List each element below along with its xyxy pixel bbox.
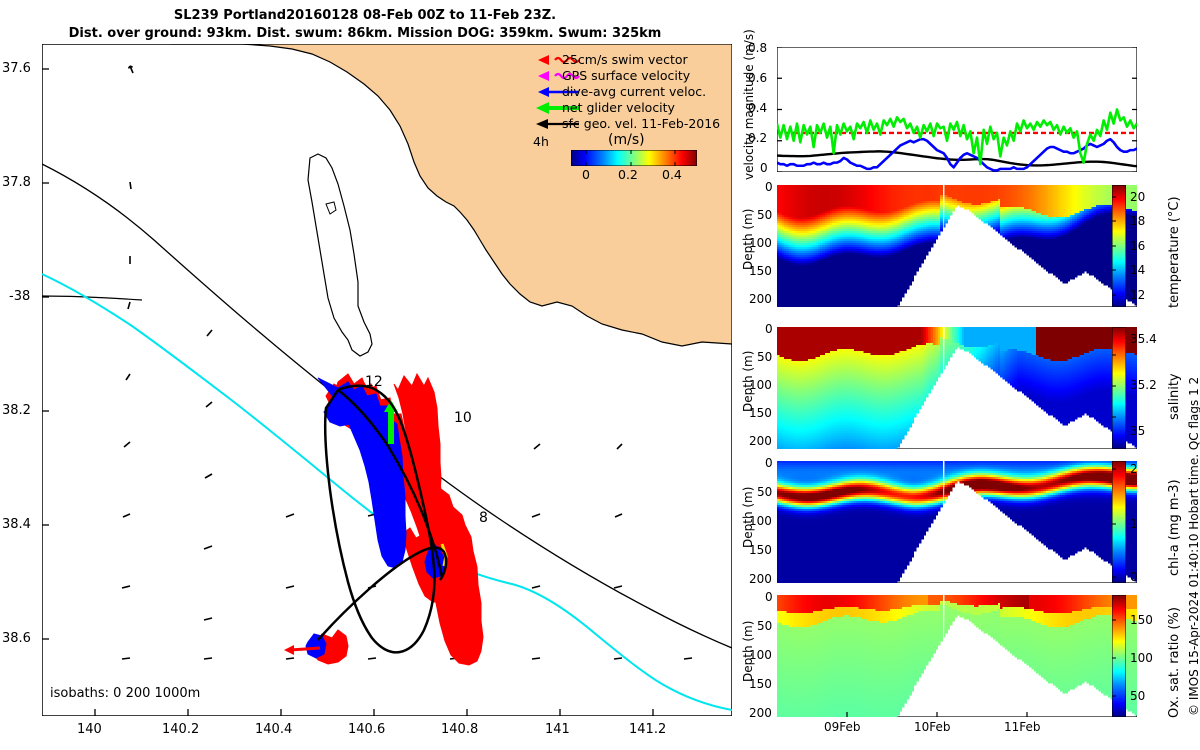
temperature-cbar-tick-4: 20 — [1130, 190, 1145, 204]
oxygen-section-plot[interactable] — [777, 595, 1137, 717]
velocity-ytick-0: 0 — [760, 161, 768, 175]
temperature-ytick-1: 50 — [757, 208, 772, 222]
chla-cbar-tick-2: 2 — [1130, 462, 1138, 476]
legend-colorbar — [571, 150, 697, 166]
velocity-plot-svg[interactable] — [777, 47, 1137, 172]
temperature-cbar-tick-1: 14 — [1130, 263, 1145, 277]
temperature-cbar-tick-2: 16 — [1130, 239, 1145, 253]
chla-cbar-tick-1: 1 — [1130, 517, 1138, 531]
chla-colorbar-svg — [1112, 461, 1126, 583]
temperature-cbar-label: temperature (°C) — [1167, 196, 1182, 308]
salinity-ytick-4: 200 — [749, 434, 772, 448]
oxygen-colorbar — [1112, 595, 1126, 717]
chla-cbar-label: chl-a (mg m-3) — [1167, 479, 1182, 576]
temperature-colorbar — [1112, 185, 1126, 307]
map-xtick-label-6: 141.2 — [629, 722, 666, 737]
map-ytick-label-2: -38 — [9, 289, 30, 304]
temperature-ytick-0: 0 — [765, 180, 773, 194]
salinity-cbar-tick-2: 35.4 — [1130, 332, 1157, 346]
temperature-cbar-tick-0: 12 — [1130, 288, 1145, 302]
legend-cbar-tick-0: 0 — [582, 167, 590, 182]
chla-ytick-0: 0 — [765, 456, 773, 470]
legend-colorbar-svg — [571, 150, 697, 166]
salinity-ytick-0: 0 — [765, 322, 773, 336]
oxygen-ytick-2: 100 — [749, 648, 772, 662]
isobaths-caption: isobaths: 0 200 1000m — [50, 686, 200, 701]
temperature-svg[interactable] — [777, 185, 1137, 307]
chla-colorbar — [1112, 461, 1126, 583]
velocity-timeseries-plot[interactable] — [777, 47, 1137, 172]
map-xtick-label-0: 140 — [77, 722, 102, 737]
oxygen-cbar-tick-0: 50 — [1130, 689, 1145, 703]
map-xtick-label-4: 140.8 — [441, 722, 478, 737]
salinity-colorbar-svg — [1112, 327, 1126, 449]
legend-interval-label: 4h — [533, 134, 549, 149]
copyright-label: © IMOS 15-Apr-2024 01:40:10 Hobart time.… — [1187, 377, 1200, 716]
legend-label-1: GPS surface velocity — [562, 68, 690, 83]
temperature-section-plot[interactable] — [777, 185, 1137, 307]
track-label-8: 8 — [479, 510, 488, 526]
map-xtick-label-1: 140.2 — [162, 722, 199, 737]
map-ytick-label-4: 38.4 — [2, 517, 31, 532]
salinity-ytick-3: 150 — [749, 406, 772, 420]
legend-cbar-tick-1: 0.2 — [618, 167, 638, 182]
oxygen-cbar-tick-1: 100 — [1130, 651, 1153, 665]
page-title-line1: SL239 Portland20160128 08-Feb 00Z to 11-… — [0, 8, 730, 23]
map-xtick-label-3: 140.6 — [348, 722, 385, 737]
chla-ytick-3: 150 — [749, 543, 772, 557]
chla-ytick-1: 50 — [757, 485, 772, 499]
velocity-ytick-1: 0.2 — [748, 131, 767, 145]
legend-label-0: 25cm/s swim vector — [562, 52, 688, 67]
oxygen-xtick-label-1: 10Feb — [914, 720, 951, 734]
temperature-ytick-3: 150 — [749, 264, 772, 278]
oxygen-svg[interactable] — [777, 595, 1137, 717]
page-title-line2: Dist. over ground: 93km. Dist. swum: 86k… — [0, 26, 730, 41]
temperature-cbar-tick-3: 18 — [1130, 214, 1145, 228]
oxygen-ytick-1: 50 — [757, 619, 772, 633]
legend-units-label: (m/s) — [608, 132, 645, 148]
track-label-10: 10 — [454, 410, 472, 426]
oxygen-cbar-label: Ox. sat. ratio (%) — [1167, 607, 1182, 718]
velocity-ytick-2: 0.4 — [748, 101, 767, 115]
salinity-section-plot[interactable] — [777, 327, 1137, 449]
chla-section-plot[interactable] — [777, 461, 1137, 583]
salinity-colorbar — [1112, 327, 1126, 449]
chla-ytick-2: 100 — [749, 514, 772, 528]
oxygen-xtick-label-0: 09Feb — [824, 720, 861, 734]
legend-label-4: sfc geo. vel. 11-Feb-2016 — [562, 116, 720, 131]
track-label-12: 12 — [365, 374, 383, 390]
salinity-cbar-label: salinity — [1167, 373, 1182, 420]
chla-cbar-tick-0: 0 — [1130, 570, 1138, 584]
map-xtick-label-2: 140.4 — [255, 722, 292, 737]
oxygen-ytick-4: 200 — [749, 706, 772, 720]
map-ytick-label-5: 38.6 — [2, 631, 31, 646]
velocity-ytick-3: 0.6 — [748, 71, 767, 85]
map-ytick-label-1: 37.8 — [2, 175, 31, 190]
legend-cbar-tick-2: 0.4 — [662, 167, 682, 182]
temperature-ytick-4: 200 — [749, 292, 772, 306]
legend-label-2: dive-avg current veloc. — [562, 84, 706, 99]
map-ytick-label-0: 37.6 — [2, 61, 31, 76]
salinity-ytick-1: 50 — [757, 350, 772, 364]
salinity-svg[interactable] — [777, 327, 1137, 449]
oxygen-ytick-3: 150 — [749, 677, 772, 691]
oxygen-colorbar-svg — [1112, 595, 1126, 717]
map-ytick-label-3: 38.2 — [2, 403, 31, 418]
map-xtick-label-5: 141 — [545, 722, 570, 737]
oxygen-ytick-0: 0 — [765, 590, 773, 604]
oxygen-xtick-label-2: 11Feb — [1004, 720, 1041, 734]
salinity-cbar-tick-1: 35.2 — [1130, 378, 1157, 392]
temperature-ytick-2: 100 — [749, 236, 772, 250]
salinity-ytick-2: 100 — [749, 378, 772, 392]
salinity-cbar-tick-0: 35 — [1130, 424, 1145, 438]
velocity-ytick-4: 0.8 — [748, 41, 767, 55]
chla-ytick-4: 200 — [749, 572, 772, 586]
chla-svg[interactable] — [777, 461, 1137, 583]
temperature-colorbar-svg — [1112, 185, 1126, 307]
oxygen-cbar-tick-2: 150 — [1130, 613, 1153, 627]
legend-label-3: net glider velocity — [562, 100, 675, 115]
